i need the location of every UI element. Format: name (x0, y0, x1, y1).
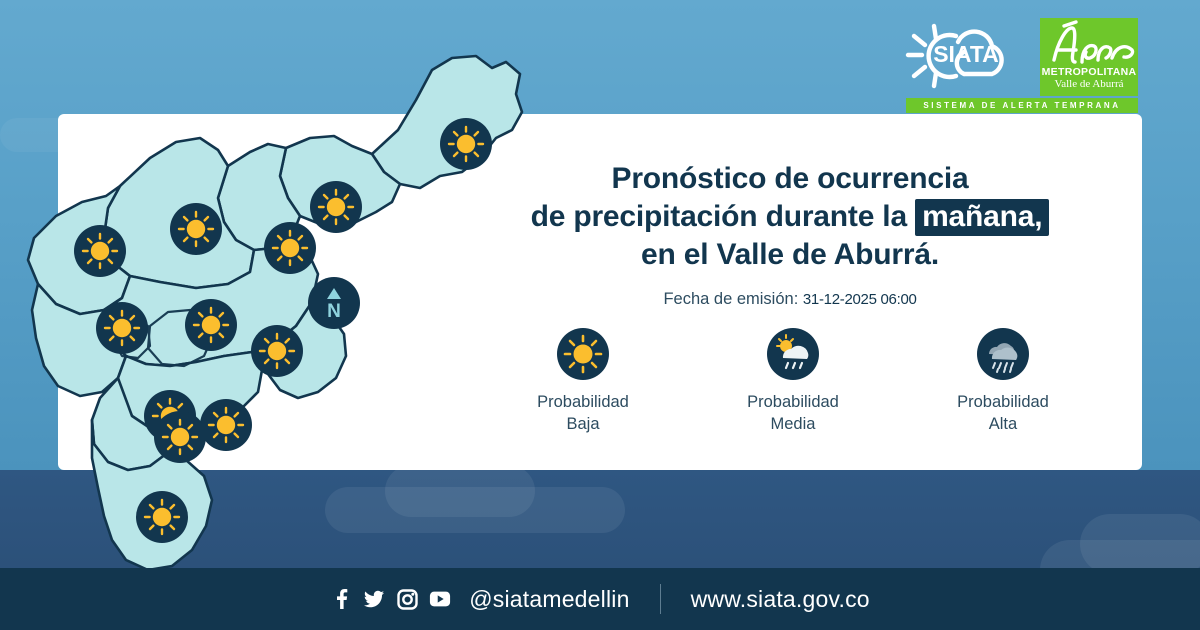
legend-media-line1: Probabilidad (747, 393, 839, 411)
social-icons (330, 588, 451, 610)
sun-cloud-icon: SIATA (900, 22, 1028, 92)
map-marker-sun-7 (251, 325, 303, 377)
area-valle-label: Valle de Aburrá (1040, 78, 1138, 90)
title-highlight-periodo: mañana, (915, 199, 1049, 236)
legend-item-baja: Probabilidad Baja (478, 328, 688, 436)
map-marker-sun-4 (74, 225, 126, 277)
legend-alta-line1: Probabilidad (957, 393, 1049, 411)
social-handle[interactable]: @siatamedellin (469, 586, 629, 613)
cloud-rain-icon (977, 328, 1029, 380)
legend-baja-line1: Probabilidad (537, 393, 629, 411)
map-marker-sun-9 (200, 399, 252, 451)
legend-media-line2: Media (771, 415, 816, 433)
area-metropolitana-label: METROPOLITANA (1040, 66, 1138, 78)
area-metropolitana-logo: METROPOLITANA Valle de Aburrá (1040, 18, 1138, 96)
area-wordmark-icon (1040, 20, 1138, 66)
map-compass: N (308, 277, 360, 329)
legend-baja-line2: Baja (566, 415, 599, 433)
headline-block: Pronóstico de ocurrencia de precipitació… (470, 160, 1110, 309)
legend-label-baja: Probabilidad Baja (537, 392, 629, 436)
legend-item-media: Probabilidad Media (688, 328, 898, 436)
svg-text:N: N (327, 301, 341, 320)
title-line-1: Pronóstico de ocurrencia (612, 162, 969, 195)
map-marker-sun-11 (136, 491, 188, 543)
page-title: Pronóstico de ocurrencia de precipitació… (470, 160, 1110, 273)
sun-cloud-rain-icon (767, 328, 819, 380)
tagline-banner: SISTEMA DE ALERTA TEMPRANA (906, 98, 1138, 113)
twitter-icon[interactable] (363, 588, 385, 610)
emission-value: 31-12-2025 06:00 (803, 291, 917, 308)
legend-item-alta: Probabilidad Alta (898, 328, 1108, 436)
map-marker-sun-1 (310, 181, 362, 233)
facebook-icon[interactable] (330, 588, 352, 610)
title-line-3: en el Valle de Aburrá. (641, 238, 939, 271)
legend-label-media: Probabilidad Media (747, 392, 839, 436)
sun-icon (557, 328, 609, 380)
map-marker-sun-3 (264, 222, 316, 274)
infographic-canvas: N (0, 0, 1200, 630)
siata-logo: SIATA (900, 22, 1028, 92)
probability-legend: Probabilidad Baja (478, 328, 1108, 436)
footer-bar: @siatamedellin www.siata.gov.co (0, 568, 1200, 630)
emission-label: Fecha de emisión: (663, 290, 798, 308)
svg-text:SIATA: SIATA (933, 41, 999, 67)
footer-divider (660, 584, 661, 614)
emission-date: Fecha de emisión: 31-12-2025 06:00 (470, 290, 1110, 309)
logo-group: SIATA METROPOLITANA Valle de Aburrá (900, 18, 1140, 114)
instagram-icon[interactable] (396, 588, 418, 610)
website-url[interactable]: www.siata.gov.co (691, 586, 870, 613)
title-line-2-pre: de precipitación durante la (531, 200, 907, 233)
legend-alta-line2: Alta (989, 415, 1017, 433)
youtube-icon[interactable] (429, 588, 451, 610)
map-marker-sun-5 (185, 299, 237, 351)
north-arrow-icon: N (319, 286, 349, 320)
map-marker-sun-2 (170, 203, 222, 255)
area-script-icon (1040, 20, 1138, 66)
legend-label-alta: Probabilidad Alta (957, 392, 1049, 436)
map-marker-sun-6 (96, 302, 148, 354)
map-marker-sun-10 (154, 411, 206, 463)
